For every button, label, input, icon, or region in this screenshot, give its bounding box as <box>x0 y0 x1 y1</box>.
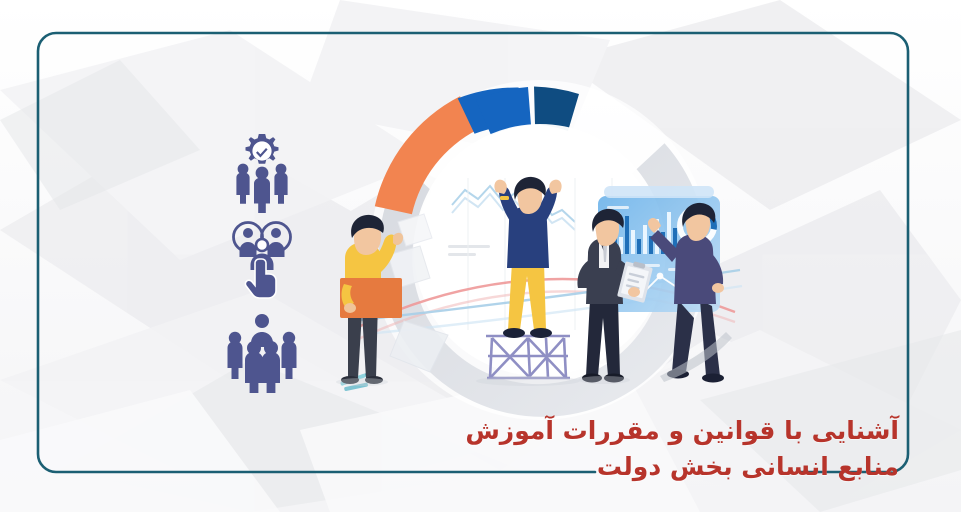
hand-select-people-icon <box>222 218 302 303</box>
icon-hand-select-people <box>222 218 302 303</box>
banner-canvas: آشنایی با قوانین و مقررات آموزش منابع ان… <box>0 0 961 512</box>
page-title: آشنایی با قوانین و مقررات آموزش منابع ان… <box>465 413 899 484</box>
title-line-1: آشنایی با قوانین و مقررات آموزش <box>465 413 899 449</box>
gear-check-team-icon <box>222 128 302 213</box>
icon-people-group <box>222 308 302 393</box>
icon-column <box>222 128 302 398</box>
icon-gear-check-team <box>222 128 302 213</box>
people-group-icon <box>222 308 302 393</box>
figure-man-with-orange-box <box>340 215 403 384</box>
title-line-2: منابع انسانی بخش دولت <box>465 449 899 485</box>
